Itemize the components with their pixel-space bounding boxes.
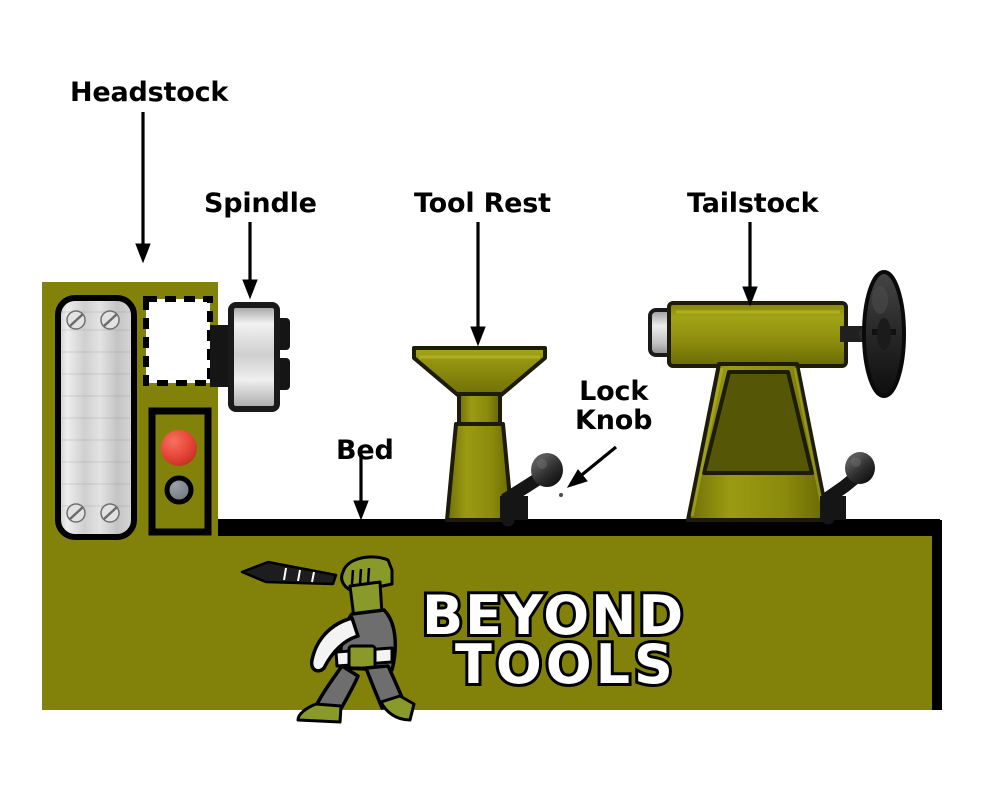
- panel-screw: [101, 504, 119, 522]
- headstock-access-panel: [58, 298, 134, 537]
- lathe-diagram-canvas: BEYOND TOOLS: [0, 0, 1000, 800]
- tailstock-lock-knob[interactable]: [820, 452, 875, 520]
- dashed-inspection-window: [146, 299, 210, 383]
- spindle-assembly: [210, 305, 290, 409]
- annotation-headstock: Headstock: [70, 78, 228, 107]
- annotation-bed: Bed: [336, 436, 394, 465]
- annotation-spindle: Spindle: [204, 189, 317, 218]
- stop-button-gray[interactable]: [167, 478, 191, 502]
- annotation-tailstock: Tailstock: [687, 189, 818, 218]
- lock-knob-arrow: [568, 447, 616, 487]
- tailstock-arrow: [743, 222, 757, 305]
- headstock-arrow: [136, 112, 150, 262]
- panel-screw: [67, 311, 85, 329]
- lathe-illustration: BEYOND TOOLS: [0, 0, 1000, 800]
- annotation-tool-rest: Tool Rest: [414, 189, 551, 218]
- annotation-lock-knob: Lock Knob: [575, 377, 652, 435]
- start-button-red[interactable]: [161, 430, 197, 466]
- tool-rest-arrow: [471, 222, 485, 345]
- control-panel: [152, 411, 208, 532]
- tailstock-handwheel[interactable]: [840, 272, 904, 396]
- panel-screw: [67, 504, 85, 522]
- logo-text-tools: TOOLS: [455, 633, 677, 696]
- spindle-arrow: [243, 222, 257, 298]
- tailstock-assembly: [650, 303, 846, 520]
- panel-screw: [101, 311, 119, 329]
